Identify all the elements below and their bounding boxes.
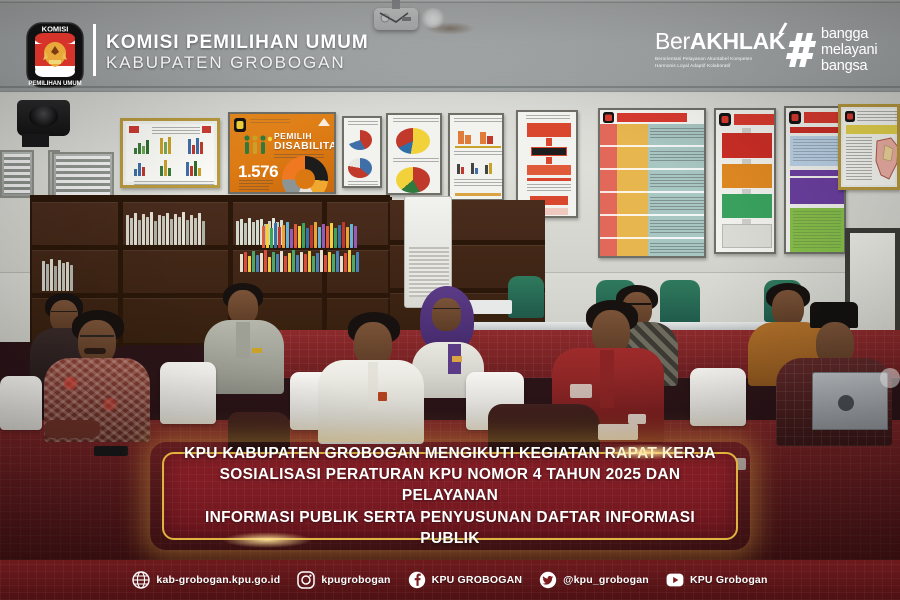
social-item-website[interactable]: kab-grobogan.kpu.go.id	[132, 571, 280, 589]
poster-pie	[348, 130, 372, 150]
books-row-colorful	[262, 222, 382, 248]
green-chair-3[interactable]	[660, 280, 700, 324]
poster-info-panels	[784, 106, 846, 254]
phone[interactable]	[94, 446, 128, 456]
poster-panel-text	[793, 139, 841, 163]
social-label-facebook: KPU GROBOGAN	[432, 574, 523, 586]
books-row	[126, 211, 222, 245]
white-chair-5[interactable]	[0, 376, 42, 430]
poster-heading-lines	[348, 121, 378, 126]
caption-banner: KPU KABUPATEN GROBOGAN MENGIKUTI KEGIATA…	[162, 452, 738, 540]
kpu-mini-logo-icon	[845, 111, 855, 122]
poster-figure: 1.576	[238, 162, 278, 182]
globe-icon	[132, 571, 150, 589]
poster-table-text	[650, 243, 704, 255]
page-title: KOMISI PEMILIHAN UMUM	[106, 32, 369, 53]
green-chair-1[interactable]	[508, 276, 544, 318]
poster-table-text	[650, 174, 704, 188]
poster-footer-lines	[348, 181, 378, 186]
header-bar: KOMISI PEMILIHAN UMUM KOMISI PEMILIHAN U…	[0, 0, 900, 96]
logo-arc-top: KOMISI	[42, 25, 69, 34]
white-chair-4[interactable]	[690, 368, 746, 426]
caption-line-2: SOSIALISASI PERATURAN KPU NOMOR 4 TAHUN …	[174, 464, 726, 507]
twitter-icon	[539, 571, 557, 589]
social-label-twitter: @kpu_grobogan	[563, 574, 649, 586]
poster-footer-lines	[454, 179, 502, 188]
books-row-colorful	[240, 250, 390, 272]
laptop-logo	[838, 395, 854, 411]
berakhlak-tagline-2: Harmonis Loyal Adaptif Kolaboratif	[655, 63, 785, 70]
poster-legend-lines	[846, 137, 872, 181]
bangga-wordmark: bangga melayani bangsa	[821, 26, 877, 75]
kpu-mini-logo-icon	[719, 113, 731, 126]
poster-bars	[186, 159, 201, 176]
poster-heading-lines	[526, 115, 570, 120]
caption-corner-glow-top	[600, 444, 690, 460]
poster-title-line2: DISABILITAS	[274, 141, 336, 152]
hash-icon	[784, 33, 818, 67]
books-row	[42, 257, 112, 291]
shelf-board	[32, 293, 392, 298]
poster-bars	[458, 130, 471, 144]
page-subtitle: KABUPATEN GROBOGAN	[106, 53, 369, 73]
poster-pie	[396, 128, 430, 154]
map-shape-icon	[873, 135, 900, 185]
poster-pie-charts-1	[342, 116, 382, 188]
speaker-mount	[22, 134, 49, 147]
berakhlak-prefix: Ber	[655, 28, 690, 54]
poster-table-text	[650, 128, 704, 140]
poster-subheading	[393, 158, 439, 163]
poster-pie-charts-2	[386, 113, 442, 195]
poster-bars	[188, 137, 203, 154]
poster-heading-lines	[393, 118, 439, 124]
poster-heading-lines	[152, 127, 200, 134]
social-item-instagram[interactable]: kpugrobogan	[297, 571, 390, 589]
poster-subheading	[250, 119, 290, 125]
caption-corner-glow-bottom	[222, 532, 312, 548]
kpu-mini-logo-icon	[789, 111, 801, 124]
poster-footer-lines	[134, 181, 214, 186]
social-footer-bar: kab-grobogan.kpu.go.id kpugrobogan KPU G…	[0, 560, 900, 600]
kpu-mini-logo-icon	[603, 112, 614, 123]
poster-heading-lines	[857, 111, 897, 121]
poster-panel-text	[793, 211, 841, 249]
poster-table-text	[650, 151, 704, 163]
poster-legend	[239, 186, 269, 194]
poster-subheading	[454, 151, 502, 157]
poster-pie	[396, 167, 430, 193]
shelf-board	[32, 197, 392, 202]
publication-graphic: PEMILIH DISABILITAS 1.576	[0, 0, 900, 600]
poster-bars	[480, 131, 493, 144]
bangga-line-3: bangsa	[821, 58, 877, 74]
berakhlak-tagline-1: Berorientasi Pelayanan Akuntabel Kompete…	[655, 56, 785, 63]
paper-sheet	[598, 424, 638, 440]
bangga-line-1: bangga	[821, 26, 877, 42]
header-title-block: KOMISI PEMILIHAN UMUM KABUPATEN GROBOGAN	[106, 32, 369, 73]
poster-flowchart-color	[714, 108, 776, 254]
social-item-facebook[interactable]: KPU GROBOGAN	[408, 571, 523, 589]
berakhlak-logo: BerAKHLAK Berorientasi Pelayanan Akuntab…	[655, 30, 785, 69]
kpu-logo: KOMISI PEMILIHAN UMUM	[26, 22, 84, 88]
poster-pemilih-disabilitas: PEMILIH DISABILITAS 1.576	[228, 112, 336, 194]
social-item-youtube[interactable]: KPU Grobogan	[666, 571, 768, 589]
bangga-melayani-bangsa-logo: bangga melayani bangsa	[788, 26, 877, 75]
facebook-icon	[408, 571, 426, 589]
logo-arc-bottom: PEMILIHAN UMUM	[28, 81, 81, 87]
youtube-icon	[666, 571, 684, 589]
poster-bars	[160, 158, 171, 176]
poster-bars	[485, 162, 492, 174]
light-glare	[880, 368, 900, 388]
poster-body-lines	[527, 184, 571, 192]
poster-table-peserta	[598, 108, 706, 258]
poster-table-text	[650, 197, 704, 211]
poster-bars	[160, 136, 171, 154]
poster-heading-lines	[454, 118, 502, 124]
bangga-line-2: melayani	[821, 42, 877, 58]
poster-figure-caption	[239, 180, 273, 184]
poster-bars	[134, 138, 149, 154]
poster-corner-icon	[318, 118, 330, 127]
instagram-icon	[297, 571, 315, 589]
poster-bars	[457, 162, 464, 174]
window-louvers	[56, 156, 110, 198]
poster-map	[838, 104, 900, 190]
white-chair-1[interactable]	[160, 362, 216, 424]
poster-bar-chart	[120, 118, 220, 188]
poster-bars	[471, 162, 478, 174]
social-label-youtube: KPU Grobogan	[690, 574, 768, 586]
disability-figures-icon	[242, 134, 272, 160]
social-label-instagram: kpugrobogan	[321, 574, 390, 586]
poster-donut-chart	[282, 156, 328, 194]
poster-pie	[348, 158, 372, 178]
social-item-twitter[interactable]: @kpu_grobogan	[539, 571, 649, 589]
berakhlak-suffix: AKHLAK	[690, 28, 785, 54]
poster-bar-charts-2	[448, 113, 504, 201]
social-label-website: kab-grobogan.kpu.go.id	[156, 574, 280, 586]
poster-bars	[134, 160, 145, 176]
paper-note	[628, 414, 646, 424]
window-louvers	[4, 154, 30, 194]
wall-speaker	[17, 100, 70, 136]
kpu-mini-logo-icon	[234, 118, 246, 132]
window-left-1	[0, 150, 34, 198]
poster-table-text	[650, 220, 704, 234]
header-divider	[93, 24, 96, 76]
berakhlak-wordmark: BerAKHLAK	[655, 30, 785, 53]
